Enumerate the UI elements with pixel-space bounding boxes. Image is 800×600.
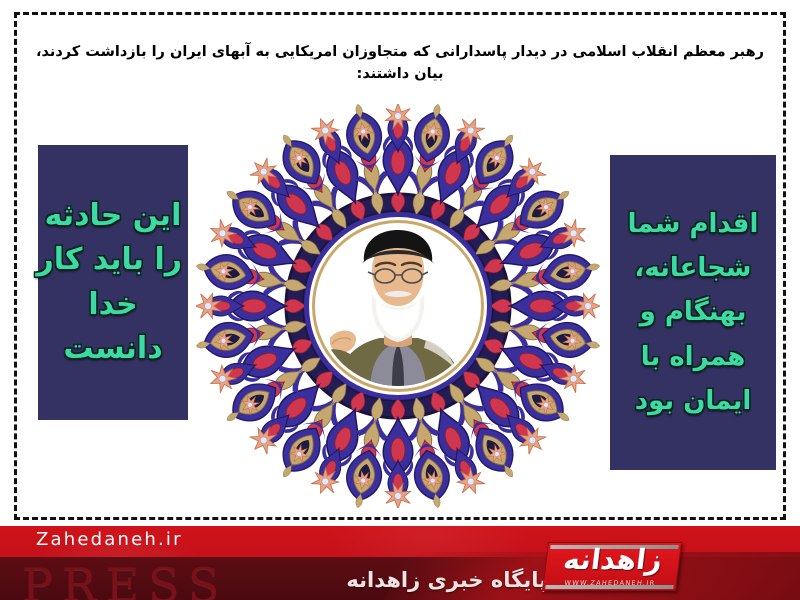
quote-right-line-1: اقدام شما	[618, 210, 768, 238]
quote-right-line-2: شجاعانه،	[618, 254, 768, 282]
quote-box-left: این حادثه را باید کار خدا دانست	[38, 145, 188, 420]
quote-left-line-1: این حادثه	[44, 200, 182, 232]
quote-right-line-5: ایمان بود	[618, 387, 768, 415]
news-graphic-page: رهبر معظم انقلاب اسلامی در دیدار پاسدارا…	[0, 0, 800, 600]
press-watermark-text: PRESS	[22, 558, 228, 600]
zahedaneh-logo-badge[interactable]: زاهدانه WWW.ZAHEDANEH.IR	[542, 542, 682, 591]
footer-tagline: پایگاه خبری زاهدانه	[346, 568, 547, 592]
portrait-frame	[318, 226, 478, 386]
logo-bar-bottom	[545, 585, 673, 589]
site-url-text[interactable]: Zahedaneh.ir	[36, 529, 183, 550]
quote-left-line-2: را باید کار	[44, 244, 182, 276]
quote-right-line-3: بهنگام و	[618, 298, 768, 326]
footer-bar: Zahedaneh.ir PRESS پایگاه خبری زاهدانه ز…	[0, 526, 800, 600]
header-caption: رهبر معظم انقلاب اسلامی در دیدار پاسدارا…	[26, 42, 774, 86]
quote-left-line-3: خدا	[44, 289, 182, 321]
quote-box-right: اقدام شما شجاعانه، بهنگام و همراه با ایم…	[610, 155, 776, 470]
portrait-of-supreme-leader-icon	[318, 226, 478, 386]
quote-right-line-4: همراه با	[618, 343, 768, 371]
quote-left-line-4: دانست	[44, 333, 182, 365]
ornamental-medallion	[196, 104, 600, 508]
logo-name-text: زاهدانه	[545, 544, 681, 576]
